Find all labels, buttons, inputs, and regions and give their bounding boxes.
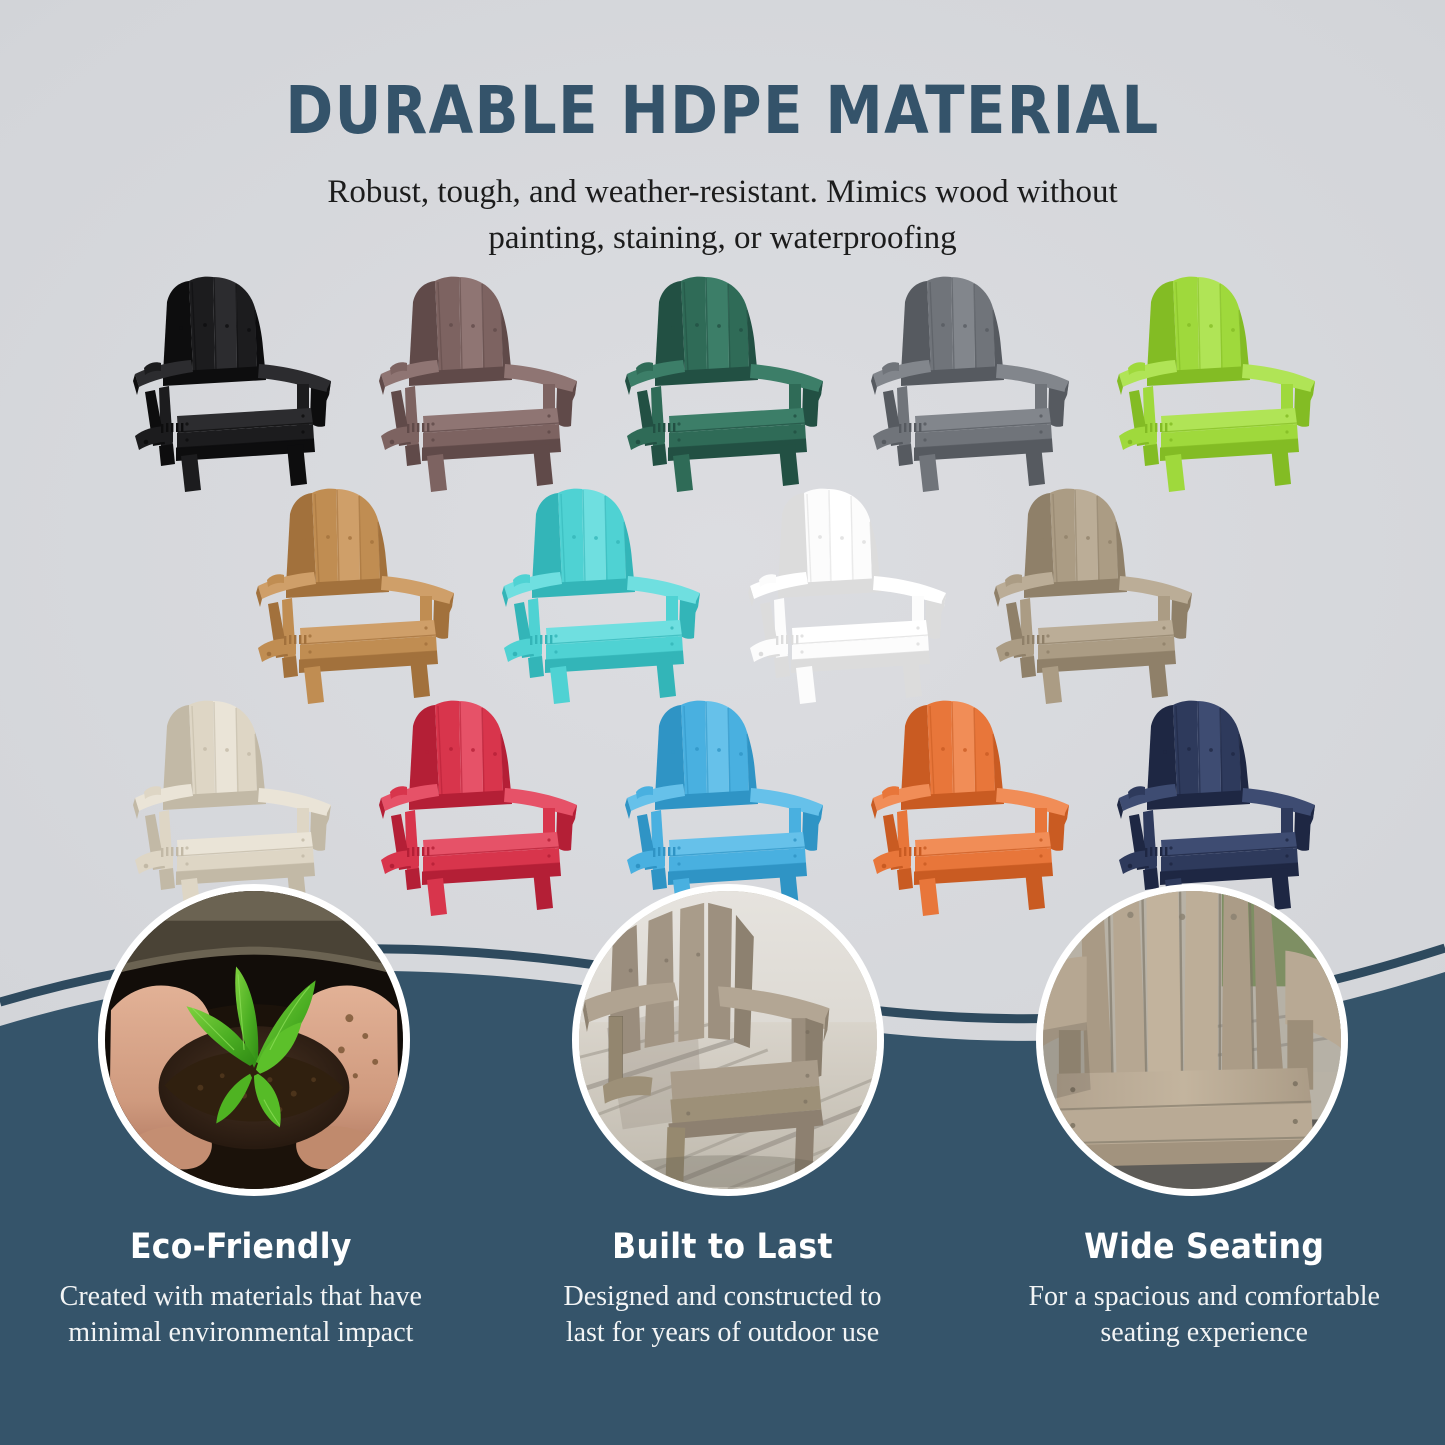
infographic-page: DURABLE HDPE MATERIAL Robust, tough, and… xyxy=(0,0,1445,1445)
chair-row-1 xyxy=(0,268,1445,493)
feature-body: Created with materials that have minimal… xyxy=(12,1279,470,1353)
feature-body-line-2: last for years of outdoor use xyxy=(494,1315,952,1352)
feature-captions: Eco-Friendly Created with materials that… xyxy=(0,1228,1445,1352)
chair-hinge-bolt xyxy=(1004,652,1009,657)
feature-body-line-1: Created with materials that have xyxy=(12,1279,470,1316)
chair-hinge-bolt xyxy=(266,652,271,657)
chair-hinge-bolt xyxy=(635,864,640,869)
header: DURABLE HDPE MATERIAL Robust, tough, and… xyxy=(0,0,1445,261)
page-subtitle: Robust, tough, and weather-resistant. Mi… xyxy=(0,170,1445,261)
feature-caption-built-to-last: Built to Last Designed and constructed t… xyxy=(482,1228,964,1352)
chair-hinge-bolt xyxy=(881,440,886,445)
page-title: DURABLE HDPE MATERIAL xyxy=(22,78,1424,144)
feature-body-line-1: For a spacious and comfortable xyxy=(975,1279,1433,1316)
feature-photo-built-to-last xyxy=(572,884,884,1196)
adirondack-chair-svg xyxy=(484,480,716,705)
feature-body-line-2: minimal environmental impact xyxy=(12,1315,470,1352)
adirondack-chair-svg xyxy=(238,480,470,705)
chair-rear-leg xyxy=(282,656,298,678)
adirondack-chair-svg xyxy=(730,480,962,705)
feature-caption-wide-seating: Wide Seating For a spacious and comforta… xyxy=(963,1228,1445,1352)
adirondack-chair-svg xyxy=(115,268,347,493)
taupe-chair-on-patio-image xyxy=(579,891,877,1189)
adirondack-chair-svg xyxy=(976,480,1208,705)
chair-hinge-bolt xyxy=(143,440,148,445)
feature-photo-eco-friendly xyxy=(98,884,410,1196)
subtitle-line-1: Robust, tough, and weather-resistant. Mi… xyxy=(0,170,1445,216)
chair-swatch-gray[interactable] xyxy=(853,268,1085,493)
chair-rear-leg xyxy=(774,656,790,678)
adirondack-chair-svg xyxy=(1099,268,1331,493)
feature-body: Designed and constructed to last for yea… xyxy=(494,1279,952,1353)
feature-body: For a spacious and comfortable seating e… xyxy=(975,1279,1433,1353)
chair-rear-leg xyxy=(651,444,667,466)
feature-title: Built to Last xyxy=(494,1228,952,1267)
chair-rear-leg xyxy=(159,444,175,466)
chair-hinge-bolt xyxy=(389,864,394,869)
chair-hinge-bolt xyxy=(758,652,763,657)
chair-hinge-bolt xyxy=(143,864,148,869)
chair-swatch-teak[interactable] xyxy=(238,480,470,705)
chair-hinge-bolt xyxy=(881,864,886,869)
chair-swatch-dark-green[interactable] xyxy=(607,268,839,493)
feature-body-line-2: seating experience xyxy=(975,1315,1433,1352)
chair-color-grid xyxy=(0,268,1445,908)
feature-title: Wide Seating xyxy=(975,1228,1433,1267)
feature-caption-eco-friendly: Eco-Friendly Created with materials that… xyxy=(0,1228,482,1352)
feature-photo-wide-seating xyxy=(1036,884,1348,1196)
adirondack-chair-svg xyxy=(607,268,839,493)
chair-seat-closeup-image xyxy=(1043,891,1341,1189)
chair-swatch-weathered-wood[interactable] xyxy=(976,480,1208,705)
chair-swatch-brown[interactable] xyxy=(361,268,593,493)
chair-rear-leg xyxy=(1143,444,1159,466)
chair-hinge-bolt xyxy=(635,440,640,445)
feature-title: Eco-Friendly xyxy=(12,1228,470,1267)
feature-body-line-1: Designed and constructed to xyxy=(494,1279,952,1316)
chair-rear-leg xyxy=(405,444,421,466)
chair-swatch-white[interactable] xyxy=(730,480,962,705)
chair-swatch-lime-green[interactable] xyxy=(1099,268,1331,493)
chair-rear-leg xyxy=(528,656,544,678)
subtitle-line-2: painting, staining, or waterproofing xyxy=(0,216,1445,262)
chair-hinge-bolt xyxy=(1127,864,1132,869)
chair-rear-leg xyxy=(1020,656,1036,678)
adirondack-chair-svg xyxy=(853,268,1085,493)
feature-photos xyxy=(0,884,1445,1214)
adirondack-chair-svg xyxy=(361,268,593,493)
chair-swatch-black[interactable] xyxy=(115,268,347,493)
chair-hinge-bolt xyxy=(512,652,517,657)
chair-swatch-turquoise[interactable] xyxy=(484,480,716,705)
seedling-in-hands-image xyxy=(105,891,403,1189)
chair-hinge-bolt xyxy=(1127,440,1132,445)
chair-rear-leg xyxy=(897,444,913,466)
chair-hinge-bolt xyxy=(389,440,394,445)
chair-row-2 xyxy=(0,480,1445,705)
